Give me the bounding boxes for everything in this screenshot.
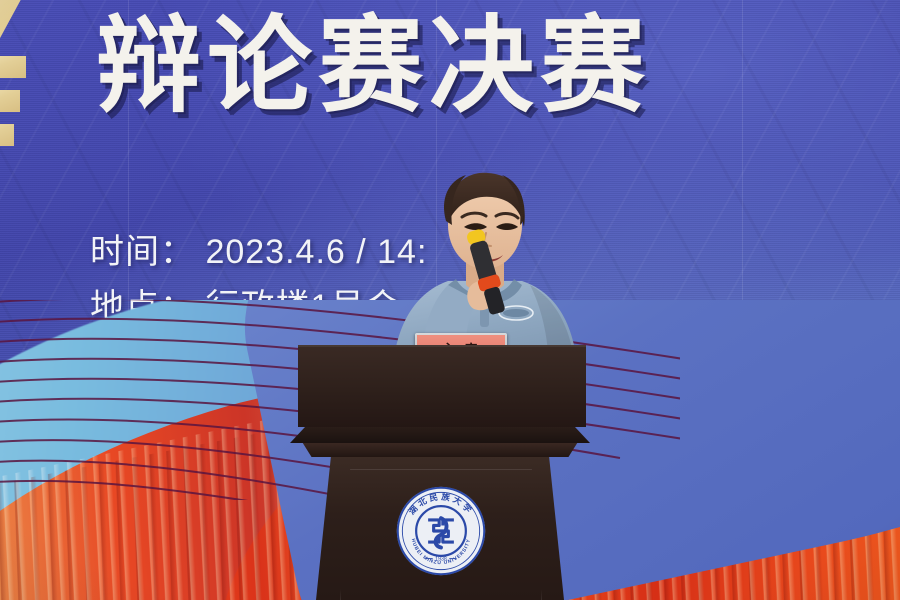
podium-top-panel xyxy=(298,345,586,427)
podium-lip-lower xyxy=(294,443,586,457)
page-title: 辩论赛决赛 xyxy=(96,14,651,119)
emblem-year: 1938 xyxy=(435,556,447,562)
stage-photo-scene: 辩论赛决赛 时间： 2023.4.6 / 14: 地点： 行政楼1号会 湖北民族… xyxy=(0,0,900,600)
podium-lip xyxy=(290,427,590,443)
podium: 主 席 湖北民族大学 xyxy=(290,345,590,600)
university-emblem: 湖北民族大学 HUBEI MINZU UNIVERSITY 1938 xyxy=(395,485,487,577)
